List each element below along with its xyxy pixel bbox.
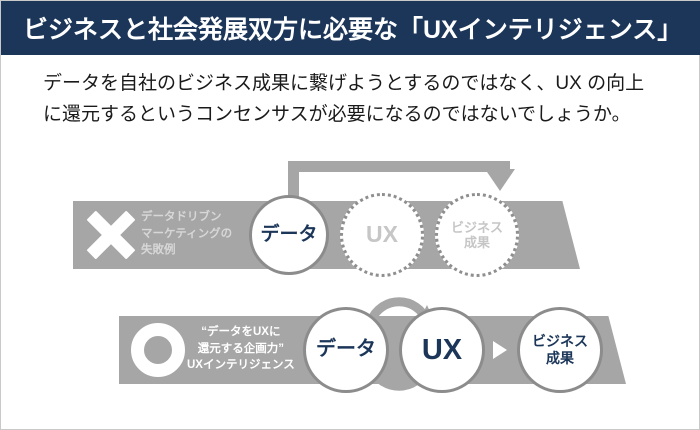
node-bad-ux: UX bbox=[340, 193, 424, 277]
row-bad-caption-line-2: マーケティングの bbox=[141, 226, 232, 243]
row-good-caption-line-1: “データをUXに bbox=[187, 324, 295, 341]
lead-line-1: データを自社のビジネス成果に繋げようとするのではなく、UX の向上 bbox=[43, 69, 663, 100]
node-good-data-label: データ bbox=[316, 338, 376, 362]
lead-line-2: に還元するというコンセンサスが必要になるのではないでしょうか。 bbox=[43, 100, 663, 131]
node-good-ux-label: UX bbox=[422, 333, 462, 367]
row-bad-banner-wedge bbox=[538, 201, 580, 269]
node-bad-business-result-label: ビジネス 成果 bbox=[451, 220, 503, 251]
title-bar: ビジネスと社会発展双方に必要な「UXインテリジェンス」 bbox=[1, 1, 700, 55]
diagram: データドリブン マーケティングの 失敗例 データ UX ビジネス 成果 bbox=[1, 161, 700, 421]
node-good-business-result: ビジネス 成果 bbox=[517, 307, 603, 393]
node-bad-ux-label: UX bbox=[366, 221, 398, 248]
bypass-arrow-head bbox=[485, 169, 515, 191]
x-mark-icon bbox=[83, 207, 139, 263]
row-bad-caption-line-1: データドリブン bbox=[141, 209, 232, 226]
row-bad-caption-line-3: 失敗例 bbox=[141, 242, 232, 259]
row-good-caption-line-3: UXインテリジェンス bbox=[187, 357, 295, 374]
o-mark-icon bbox=[131, 323, 185, 377]
node-bad-data: データ bbox=[249, 195, 329, 275]
node-good-business-result-label: ビジネス 成果 bbox=[532, 333, 588, 366]
row-bad-caption: データドリブン マーケティングの 失敗例 bbox=[141, 209, 232, 259]
node-good-ux: UX bbox=[399, 307, 485, 393]
row-good-caption: “データをUXに 還元する企画力” UXインテリジェンス bbox=[187, 324, 295, 374]
node-bad-business-result: ビジネス 成果 bbox=[435, 193, 519, 277]
row-good-caption-line-2: 還元する企画力” bbox=[187, 341, 295, 358]
slide: ビジネスと社会発展双方に必要な「UXインテリジェンス」 データを自社のビジネス成… bbox=[0, 0, 700, 430]
node-good-data: データ bbox=[303, 307, 389, 393]
node-bad-data-label: データ bbox=[260, 224, 317, 246]
forward-arrow-icon bbox=[493, 341, 507, 359]
lead-paragraph: データを自社のビジネス成果に繋げようとするのではなく、UX の向上 に還元すると… bbox=[43, 69, 663, 131]
page-title: ビジネスと社会発展双方に必要な「UXインテリジェンス」 bbox=[23, 10, 682, 46]
bypass-arrow-shaft bbox=[288, 161, 510, 172]
